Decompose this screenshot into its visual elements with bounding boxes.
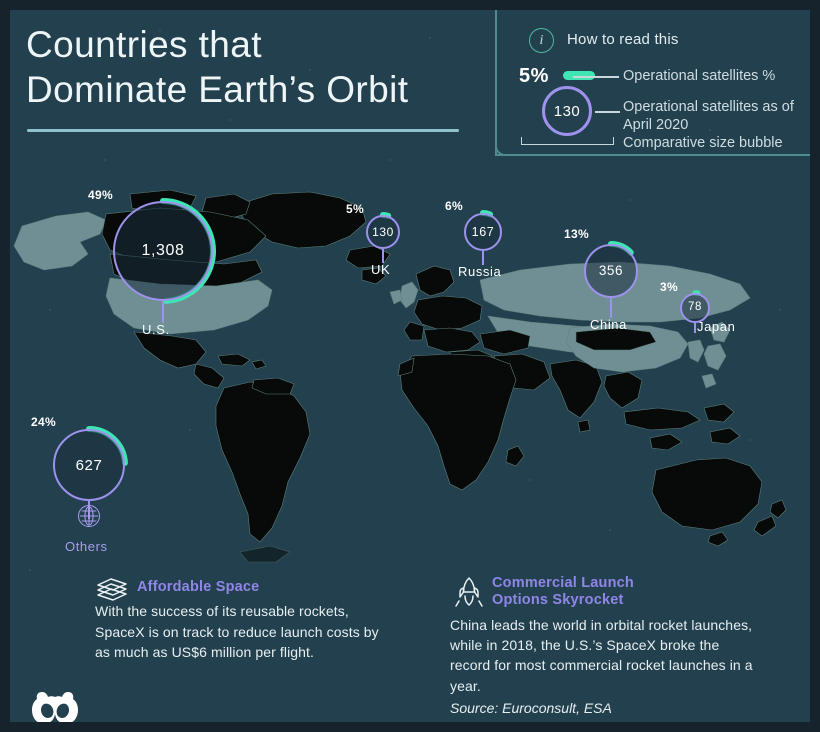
note-commercial-launch: Commercial Launch Options Skyrocket Chin…	[450, 575, 755, 696]
title-line-1: Countries that	[26, 22, 496, 67]
legend-border-corner	[495, 138, 513, 156]
info-icon: i	[529, 28, 554, 53]
legend-sample-percent: 5%	[519, 65, 549, 88]
bubble-china-ring: 356	[584, 244, 638, 298]
bubble-us-value: 1,308	[141, 243, 184, 259]
bubble-us[interactable]: 1,308 49% U.S.	[113, 201, 213, 301]
note-commercial-launch-title-line-1: Commercial Launch	[492, 575, 755, 592]
bubble-china-label: China	[590, 317, 627, 332]
bubble-uk-ring: 130	[366, 215, 400, 249]
legend-border-left	[495, 10, 497, 156]
bubble-us-ring: 1,308	[113, 201, 213, 301]
note-affordable-space: Affordable Space With the success of its…	[95, 575, 395, 662]
legend-label-bubble: Comparative size bubble	[623, 135, 783, 151]
bubble-uk-percent: 5%	[346, 202, 364, 216]
bubble-us-stem	[162, 301, 164, 323]
bubble-russia[interactable]: 167 6% Russia	[464, 213, 502, 251]
bubble-russia-stem	[482, 251, 484, 265]
legend-border-bottom	[495, 154, 810, 156]
legend-size-bracket	[521, 137, 614, 145]
legend-label-percent: Operational satellites %	[623, 68, 775, 84]
bubble-russia-percent: 6%	[445, 199, 463, 213]
bubble-china-percent: 13%	[564, 227, 589, 241]
infographic-root: .land { fill:#070a09; stroke:#5d7f7a; st…	[0, 0, 820, 732]
bubble-others-ring: 627	[53, 429, 125, 501]
legend-leader-line-percent	[573, 76, 619, 78]
title-divider	[27, 129, 459, 132]
title-line-2: Dominate Earth’s Orbit	[26, 67, 496, 112]
bubble-japan[interactable]: 78 3% Japan	[680, 293, 710, 323]
bubble-china[interactable]: 356 13% China	[584, 244, 638, 298]
note-affordable-space-body: With the success of its reusable rockets…	[95, 601, 395, 662]
bubble-others-label: Others	[65, 539, 108, 554]
bubble-russia-value: 167	[472, 226, 495, 239]
bubble-uk-stem	[382, 249, 384, 263]
bubble-uk-value: 130	[372, 226, 394, 238]
bubble-uk[interactable]: 130 5% UK	[366, 215, 400, 249]
bubble-us-label: U.S.	[142, 322, 170, 337]
bubble-china-stem	[610, 298, 612, 318]
bubble-uk-label: UK	[371, 262, 390, 277]
binoculars-logo[interactable]	[32, 688, 78, 722]
bubble-japan-stem	[694, 323, 696, 333]
bubble-others[interactable]: 627 24% Others	[53, 429, 125, 501]
bubble-china-value: 356	[599, 264, 623, 278]
bubble-us-percent: 49%	[88, 188, 113, 202]
legend-heading: How to read this	[567, 31, 679, 48]
bubble-japan-percent: 3%	[660, 280, 678, 294]
note-affordable-space-title: Affordable Space	[137, 575, 395, 596]
legend-sample-value: 130	[554, 103, 581, 120]
bubble-others-percent: 24%	[31, 415, 56, 429]
page-title: Countries that Dominate Earth’s Orbit	[26, 22, 496, 112]
bubble-others-value: 627	[76, 458, 103, 473]
legend-sample-bubble: 130	[542, 86, 592, 136]
note-commercial-launch-title-line-2: Options Skyrocket	[492, 592, 755, 609]
bubble-japan-label: Japan	[697, 319, 735, 334]
bubble-russia-label: Russia	[458, 264, 501, 279]
legend-label-value: Operational satellites as of April 2020	[623, 98, 803, 134]
legend-how-to-read: i How to read this 5% Operational satell…	[495, 10, 810, 160]
bubble-russia-ring: 167	[464, 213, 502, 251]
legend-leader-line-value	[595, 111, 620, 113]
note-commercial-launch-body: China leads the world in orbital rocket …	[450, 615, 755, 696]
source-credit: Source: Euroconsult, ESA	[450, 700, 612, 716]
infographic-panel: .land { fill:#070a09; stroke:#5d7f7a; st…	[10, 10, 810, 722]
bubble-japan-value: 78	[688, 302, 702, 314]
globe-icon	[78, 505, 100, 527]
